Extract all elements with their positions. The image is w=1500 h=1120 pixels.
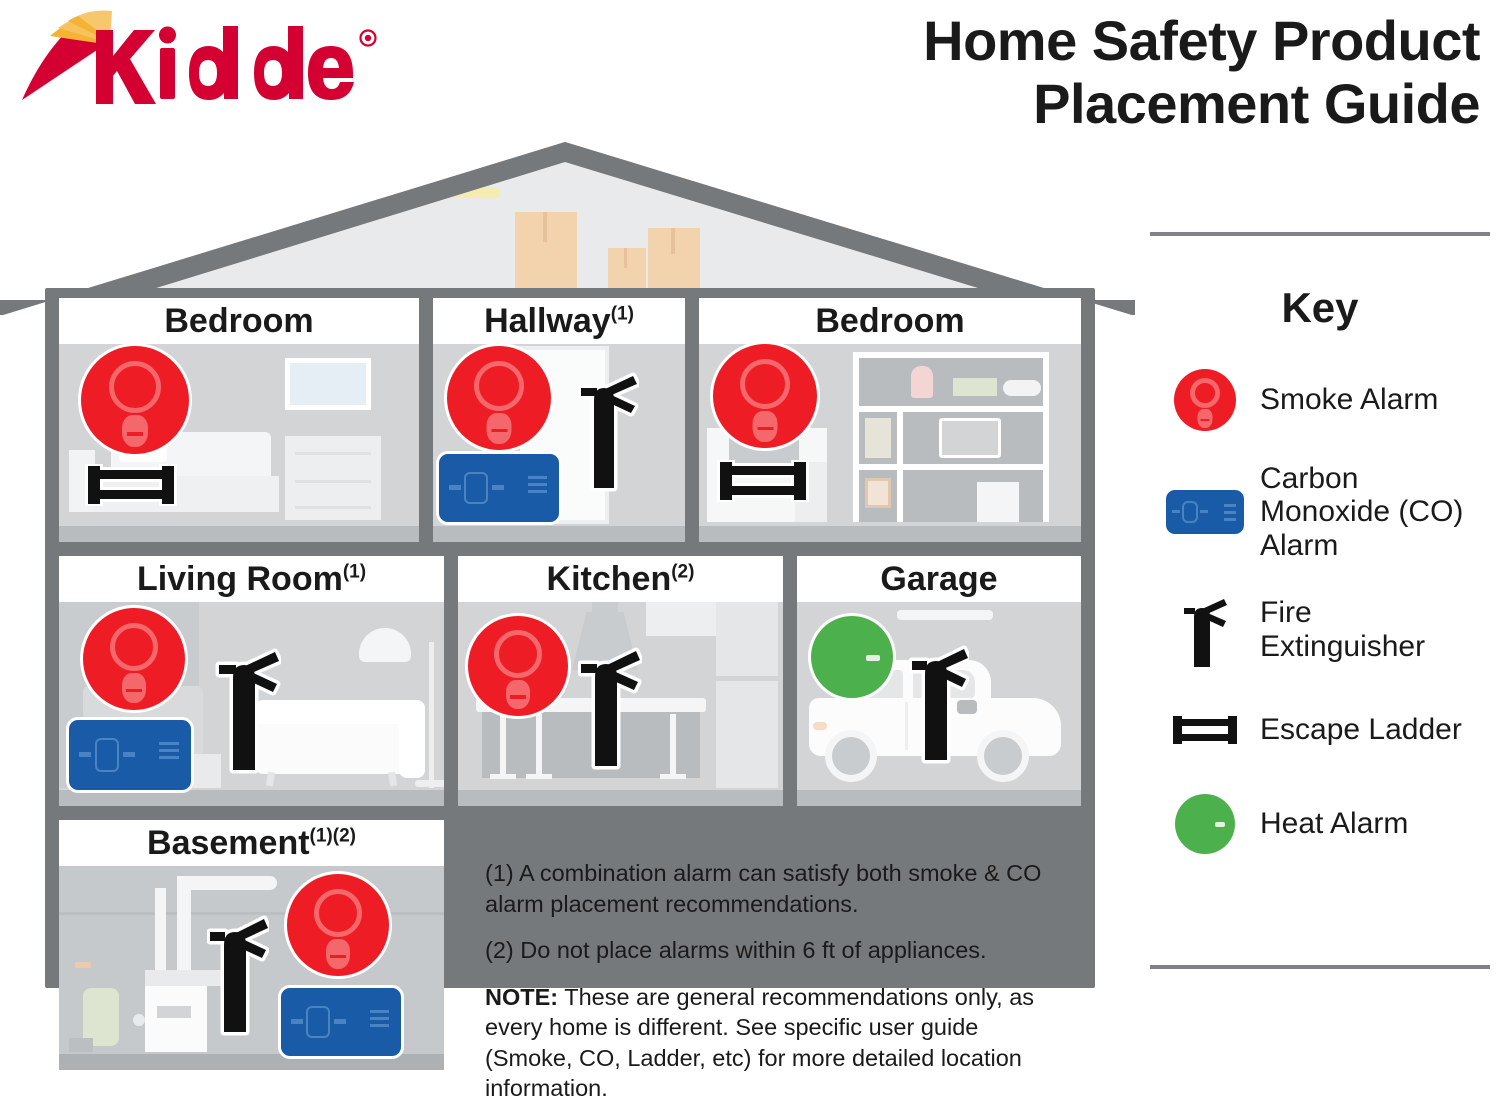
page-title-line-2: Placement Guide	[760, 73, 1480, 136]
upper-cabinet	[646, 602, 718, 636]
key-label-fire-extinguisher: Fire Extinguisher	[1260, 596, 1475, 663]
room-garage: Garage	[797, 556, 1081, 806]
box-decor	[953, 378, 997, 396]
room-label-bedroom-left: Bedroom	[59, 298, 419, 338]
fire-extinguisher-icon	[1182, 591, 1228, 669]
fire-extinguisher-icon	[215, 640, 281, 780]
floor-lamp-base	[415, 780, 444, 787]
water-heater-panel	[157, 1006, 191, 1018]
co-alarm-icon	[281, 988, 401, 1056]
refrigerator	[716, 602, 778, 788]
logo-wordmark	[96, 26, 354, 104]
heat-alarm-icon	[1175, 794, 1235, 854]
heat-alarm-icon	[811, 616, 893, 698]
bar-stool-1-foot	[490, 774, 516, 779]
room-label-garage: Garage	[797, 556, 1081, 596]
bar-stool-3	[670, 714, 676, 778]
footnote-2: (2) Do not place alarms within 6 ft of a…	[485, 935, 1065, 966]
bar-stool-2-foot	[526, 774, 552, 779]
escape-ladder-icon	[717, 460, 809, 502]
kidde-logo	[8, 8, 388, 113]
smoke-alarm-icon	[1174, 369, 1236, 431]
key-label-smoke-alarm: Smoke Alarm	[1260, 383, 1438, 417]
bird-decor	[1003, 380, 1041, 396]
picture-frame	[865, 478, 891, 508]
room-scene-bedroom-left	[59, 344, 419, 542]
floor-lamp-shade	[359, 628, 411, 662]
key-item-heat-alarm: Heat Alarm	[1150, 782, 1490, 866]
room-hallway: Hallway(1)	[433, 298, 685, 542]
floor	[59, 526, 419, 542]
co-alarm-icon	[1166, 490, 1244, 534]
bookshelf-unit	[853, 352, 1049, 522]
floor	[699, 526, 1081, 542]
room-basement: Basement(1)(2)	[59, 820, 444, 1070]
room-bedroom-left: Bedroom	[59, 298, 419, 542]
page-title-line-1: Home Safety Product	[760, 10, 1480, 73]
bar-stool-1	[500, 714, 506, 778]
floor	[59, 1054, 444, 1070]
car-door-line	[905, 702, 908, 750]
smoke-alarm-icon	[713, 344, 817, 448]
co-alarm-icon	[69, 720, 191, 790]
floor	[797, 790, 1081, 806]
valve	[75, 962, 91, 968]
smoke-alarm-icon	[83, 608, 185, 710]
key-title: Key	[1150, 284, 1490, 332]
key-rule-top	[1150, 232, 1490, 236]
room-scene-garage	[797, 602, 1081, 806]
key-label-co-alarm: Carbon Monoxide (CO) Alarm	[1260, 462, 1475, 563]
co-alarm-icon	[439, 454, 559, 522]
car-wheel-front	[825, 730, 877, 782]
room-bedroom-right: Bedroom	[699, 298, 1081, 542]
footnotes: (1) A combination alarm can satisfy both…	[485, 858, 1065, 1120]
fire-extinguisher-icon	[578, 640, 642, 774]
page-title: Home Safety Product Placement Guide	[760, 10, 1480, 135]
room-label-living-room: Living Room(1)	[59, 556, 444, 596]
stool	[977, 482, 1019, 522]
note-general: NOTE: These are general recommendations …	[485, 982, 1065, 1104]
room-scene-basement	[59, 866, 444, 1070]
room-scene-living-room	[59, 602, 444, 806]
fire-extinguisher-icon	[909, 638, 969, 768]
escape-ladder-icon	[85, 464, 177, 506]
bar-stool-2	[536, 714, 542, 778]
dresser	[285, 436, 381, 520]
key-item-fire-extinguisher: Fire Extinguisher	[1150, 582, 1490, 678]
key-label-heat-alarm: Heat Alarm	[1260, 807, 1408, 841]
registered-mark	[361, 31, 376, 46]
note-label: NOTE:	[485, 984, 558, 1010]
range-hood-pipe	[592, 602, 618, 616]
key-panel: Key Smoke Alarm Carbon Monoxide (CO) Ala…	[1150, 232, 1490, 876]
key-item-smoke-alarm: Smoke Alarm	[1150, 358, 1490, 442]
smoke-alarm-icon	[468, 616, 568, 716]
pipe-vertical-2	[177, 876, 191, 984]
room-label-bedroom-right: Bedroom	[699, 298, 1081, 338]
bar-stool-3-foot	[660, 774, 686, 779]
fire-extinguisher-icon	[577, 366, 639, 498]
room-kitchen: Kitchen(2)	[458, 556, 783, 806]
key-item-escape-ladder: Escape Ladder	[1150, 688, 1490, 772]
floor-lamp-pole	[429, 642, 434, 788]
room-label-kitchen: Kitchen(2)	[458, 556, 783, 596]
fire-extinguisher-icon	[207, 908, 269, 1040]
pipe-horizontal	[177, 876, 277, 890]
sofa-arm	[399, 700, 425, 778]
smoke-alarm-icon	[81, 346, 189, 454]
smoke-alarm-icon	[447, 346, 551, 450]
room-scene-hallway	[433, 344, 685, 542]
footnote-1: (1) A combination alarm can satisfy both…	[485, 858, 1065, 919]
room-label-basement: Basement(1)(2)	[59, 820, 444, 860]
car-wheel-rear	[977, 730, 1029, 782]
gauge	[133, 1014, 145, 1026]
lamp-decor	[911, 366, 933, 398]
room-scene-bedroom-right	[699, 344, 1081, 542]
escape-ladder-icon	[1172, 715, 1238, 745]
key-item-co-alarm: Carbon Monoxide (CO) Alarm	[1150, 452, 1490, 572]
floor	[59, 790, 444, 806]
car-headlight	[813, 722, 827, 730]
books	[865, 418, 891, 458]
room-scene-kitchen	[458, 602, 783, 806]
key-rule-bottom	[1150, 965, 1490, 969]
monitor	[939, 418, 1001, 458]
garage-door-light	[897, 610, 993, 620]
room-living-room: Living Room(1)	[59, 556, 444, 806]
placement-guide-page: Home Safety Product Placement Guide	[0, 0, 1500, 1095]
smoke-alarm-icon	[287, 874, 389, 976]
note-body: These are general recommendations only, …	[485, 984, 1034, 1102]
shelf-box	[69, 1038, 93, 1052]
floor	[433, 526, 685, 542]
fridge-divider	[716, 676, 778, 681]
window	[285, 358, 371, 410]
floor	[458, 790, 783, 806]
room-label-hallway: Hallway(1)	[433, 298, 685, 338]
key-label-escape-ladder: Escape Ladder	[1260, 713, 1462, 747]
